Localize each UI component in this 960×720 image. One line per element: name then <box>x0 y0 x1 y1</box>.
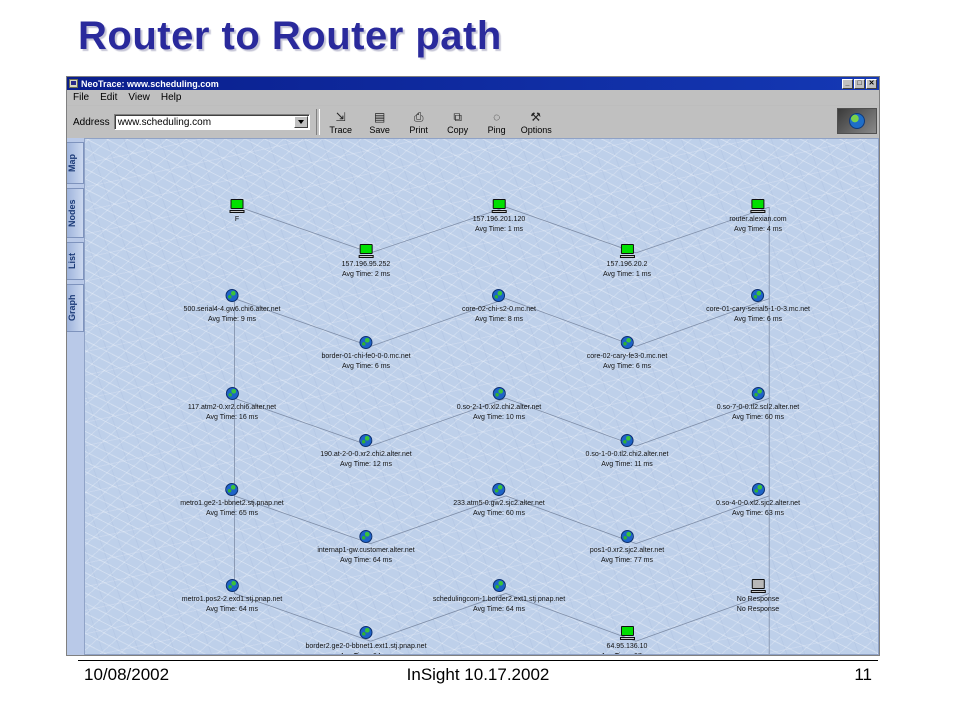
window-controls: _ □ ✕ <box>842 79 877 89</box>
computer-icon <box>619 244 634 258</box>
trace-icon: ⇲ <box>326 109 356 124</box>
map-node[interactable]: 233.atm5-0.gw2.sjc2.alter.netAvg Time: 6… <box>453 483 544 518</box>
footer-center: InSight 10.17.2002 <box>344 665 612 685</box>
node-label: 190.at-2-0-0.xr2.chi2.alter.net <box>320 450 411 459</box>
router-icon <box>621 336 634 349</box>
map-node[interactable]: 64.95.136.10Avg Time: 67 ms <box>601 626 653 655</box>
node-label: 233.atm5-0.gw2.sjc2.alter.net <box>453 499 544 508</box>
node-latency: Avg Time: 16 ms <box>188 413 276 422</box>
copy-button-label: Copy <box>443 125 473 135</box>
node-label: 117.atm2-0.xr2.chi6.alter.net <box>188 403 276 412</box>
map-node[interactable]: metro1.pos2-2.exd1.stj.pnap.netAvg Time:… <box>182 579 282 614</box>
tab-graph[interactable]: Graph <box>67 284 84 332</box>
router-icon <box>620 530 633 543</box>
node-latency: Avg Time: 10 ms <box>457 413 541 422</box>
map-node[interactable]: metro1.ge2-1-bbnet2.stj.pnap.netAvg Time… <box>180 483 284 518</box>
copy-icon: ⧉ <box>443 109 473 124</box>
node-latency: Avg Time: 12 ms <box>320 460 411 469</box>
map-node[interactable]: schedulingcom-1.border2.ext1.stj.pnap.ne… <box>433 579 565 614</box>
map-node[interactable]: 0.so-2-1-0.xl2.chi2.alter.netAvg Time: 1… <box>457 387 541 422</box>
page-title: Router to Router path <box>78 14 502 59</box>
router-icon <box>492 483 505 496</box>
router-icon <box>360 530 373 543</box>
node-label: 0.so-7-0-0.tl2.scl2.alter.net <box>717 403 800 412</box>
node-label: internap1-gw.customer.alter.net <box>317 546 414 555</box>
computer-icon <box>750 199 765 213</box>
node-latency: Avg Time: 64 ms <box>433 605 565 614</box>
node-latency: Avg Time: 67 ms <box>601 652 653 655</box>
network-map[interactable]: F157.196.95.252Avg Time: 2 ms157.196.201… <box>85 138 879 655</box>
globe-icon <box>849 113 865 129</box>
node-latency: Avg Time: 63 ms <box>716 509 800 518</box>
toolbar-buttons: ⇲ Trace ▤ Save ⎙ Print ⧉ Copy ◌ Ping <box>326 109 551 135</box>
router-icon <box>226 289 239 302</box>
footer-date: 10/08/2002 <box>78 665 344 685</box>
map-node[interactable]: 157.196.201.120Avg Time: 1 ms <box>473 199 526 234</box>
copy-button[interactable]: ⧉ Copy <box>443 109 473 135</box>
chevron-down-icon[interactable] <box>294 116 308 128</box>
toolbar: Address www.scheduling.com ⇲ Trace ▤ Sav… <box>67 106 879 139</box>
map-node[interactable]: 157.196.95.252Avg Time: 2 ms <box>342 244 391 279</box>
node-latency: Avg Time: 2 ms <box>342 270 391 279</box>
node-label: 0.so-4-0-0.xl2.sjc2.alter.net <box>716 499 800 508</box>
print-button-label: Print <box>404 125 434 135</box>
node-label: 0.so-2-1-0.xl2.chi2.alter.net <box>457 403 541 412</box>
print-button[interactable]: ⎙ Print <box>404 109 434 135</box>
map-node[interactable]: No ResponseNo Response <box>737 579 779 614</box>
node-label: border2.ge2-0-bbnet1.ext1.stj.pnap.net <box>305 642 426 651</box>
menu-item-view[interactable]: View <box>128 92 150 103</box>
node-latency: Avg Time: 11 ms <box>586 460 669 469</box>
map-node[interactable]: 0.so-1-0-0.tl2.chi2.alter.netAvg Time: 1… <box>586 434 669 469</box>
router-icon <box>360 626 373 639</box>
node-label: F <box>230 215 245 224</box>
neotrace-logo <box>837 108 877 134</box>
node-latency: Avg Time: 77 ms <box>590 556 664 565</box>
tab-nodes[interactable]: Nodes <box>67 188 84 238</box>
node-label: router.alexian.com <box>729 215 786 224</box>
router-icon <box>226 579 239 592</box>
presentation-slide: Router to Router path NeoTrace: www.sche… <box>0 0 960 720</box>
map-node[interactable]: 157.196.20.2Avg Time: 1 ms <box>603 244 651 279</box>
node-label: metro1.ge2-1-bbnet2.stj.pnap.net <box>180 499 284 508</box>
node-label: metro1.pos2-2.exd1.stj.pnap.net <box>182 595 282 604</box>
node-latency: Avg Time: 60 ms <box>717 413 800 422</box>
trace-button[interactable]: ⇲ Trace <box>326 109 356 135</box>
router-icon <box>492 289 505 302</box>
node-label: 64.95.136.10 <box>601 642 653 651</box>
computer-icon <box>230 199 245 213</box>
router-icon <box>752 289 765 302</box>
menu-bar: File Edit View Help <box>67 90 879 106</box>
map-node[interactable]: F <box>230 199 245 224</box>
router-icon <box>493 579 506 592</box>
toolbar-separator <box>316 109 320 135</box>
node-label: core-02-chi-s2-0.mc.net <box>462 305 536 314</box>
computer-icon <box>358 244 373 258</box>
menu-item-file[interactable]: File <box>73 92 89 103</box>
app-icon <box>69 79 78 88</box>
computer-icon <box>619 626 634 640</box>
save-icon: ▤ <box>365 109 395 124</box>
tab-list[interactable]: List <box>67 242 84 280</box>
router-icon <box>225 387 238 400</box>
window-title: NeoTrace: www.scheduling.com <box>81 79 842 89</box>
print-icon: ⎙ <box>404 109 434 124</box>
node-latency: Avg Time: 64 ms <box>182 605 282 614</box>
router-icon <box>359 434 372 447</box>
router-icon <box>751 483 764 496</box>
minimize-button[interactable]: _ <box>842 79 853 89</box>
computer-icon <box>492 199 507 213</box>
node-latency: Avg Time: 64 ms <box>305 652 426 655</box>
map-node[interactable]: internap1-gw.customer.alter.netAvg Time:… <box>317 530 414 565</box>
node-label: border-01-chi-fe0-0-0.mc.net <box>321 352 410 361</box>
slide-footer: 10/08/2002 InSight 10.17.2002 11 <box>78 660 878 689</box>
options-icon: ⚒ <box>521 109 551 124</box>
trace-button-label: Trace <box>326 125 356 135</box>
router-icon <box>620 434 633 447</box>
options-button[interactable]: ⚒ Options <box>521 109 551 135</box>
node-latency: Avg Time: 64 ms <box>317 556 414 565</box>
computer-offline-icon <box>750 579 765 593</box>
address-input[interactable]: www.scheduling.com <box>114 114 310 130</box>
node-latency: Avg Time: 6 ms <box>706 315 810 324</box>
node-latency: No Response <box>737 605 779 614</box>
window-titlebar: NeoTrace: www.scheduling.com _ □ ✕ <box>67 77 879 90</box>
router-icon <box>493 387 506 400</box>
map-node[interactable]: 500.serial4-4.gw6.chi6.alter.netAvg Time… <box>184 289 281 324</box>
address-value: www.scheduling.com <box>118 117 211 128</box>
node-latency: Avg Time: 60 ms <box>453 509 544 518</box>
node-latency: Avg Time: 1 ms <box>473 225 526 234</box>
neotrace-window: NeoTrace: www.scheduling.com _ □ ✕ File … <box>66 76 880 656</box>
close-button[interactable]: ✕ <box>866 79 877 89</box>
node-label: 157.196.95.252 <box>342 260 391 269</box>
node-label: core-02-cary-fe3-0.mc.net <box>587 352 668 361</box>
node-label: 0.so-1-0-0.tl2.chi2.alter.net <box>586 450 669 459</box>
map-node[interactable]: 0.so-4-0-0.xl2.sjc2.alter.netAvg Time: 6… <box>716 483 800 518</box>
ping-icon: ◌ <box>482 109 512 124</box>
map-node[interactable]: border2.ge2-0-bbnet1.ext1.stj.pnap.netAv… <box>305 626 426 655</box>
router-icon <box>225 483 238 496</box>
map-node[interactable]: core-02-cary-fe3-0.mc.netAvg Time: 6 ms <box>587 336 668 371</box>
options-button-label: Options <box>521 125 551 135</box>
node-label: schedulingcom-1.border2.ext1.stj.pnap.ne… <box>433 595 565 604</box>
ping-button[interactable]: ◌ Ping <box>482 109 512 135</box>
map-node[interactable]: core-02-chi-s2-0.mc.netAvg Time: 8 ms <box>462 289 536 324</box>
ping-button-label: Ping <box>482 125 512 135</box>
map-node[interactable]: router.alexian.comAvg Time: 4 ms <box>729 199 786 234</box>
node-label: 157.196.20.2 <box>603 260 651 269</box>
node-latency: Avg Time: 65 ms <box>180 509 284 518</box>
maximize-button[interactable]: □ <box>854 79 865 89</box>
node-label: 157.196.201.120 <box>473 215 526 224</box>
map-node[interactable]: 190.at-2-0-0.xr2.chi2.alter.netAvg Time:… <box>320 434 411 469</box>
footer-page: 11 <box>612 665 878 685</box>
node-latency: Avg Time: 8 ms <box>462 315 536 324</box>
node-latency: Avg Time: 1 ms <box>603 270 651 279</box>
map-node[interactable]: core-01-cary-serial5-1-0-3.mc.netAvg Tim… <box>706 289 810 324</box>
node-label: core-01-cary-serial5-1-0-3.mc.net <box>706 305 810 314</box>
node-latency: Avg Time: 6 ms <box>321 362 410 371</box>
router-icon <box>360 336 373 349</box>
node-label: pos1-0.xr2.sjc2.alter.net <box>590 546 664 555</box>
view-tabs: Map Nodes List Graph <box>67 138 85 655</box>
node-label: No Response <box>737 595 779 604</box>
map-node[interactable]: 117.atm2-0.xr2.chi6.alter.netAvg Time: 1… <box>188 387 276 422</box>
node-latency: Avg Time: 4 ms <box>729 225 786 234</box>
menu-item-help[interactable]: Help <box>161 92 182 103</box>
window-body: Map Nodes List Graph F157.196.95.252Avg … <box>67 138 879 655</box>
map-node[interactable]: border-01-chi-fe0-0-0.mc.netAvg Time: 6 … <box>321 336 410 371</box>
save-button[interactable]: ▤ Save <box>365 109 395 135</box>
save-button-label: Save <box>365 125 395 135</box>
node-label: 500.serial4-4.gw6.chi6.alter.net <box>184 305 281 314</box>
router-icon <box>752 387 765 400</box>
node-latency: Avg Time: 9 ms <box>184 315 281 324</box>
address-label: Address <box>73 117 110 128</box>
map-node[interactable]: pos1-0.xr2.sjc2.alter.netAvg Time: 77 ms <box>590 530 664 565</box>
map-node[interactable]: 0.so-7-0-0.tl2.scl2.alter.netAvg Time: 6… <box>717 387 800 422</box>
menu-item-edit[interactable]: Edit <box>100 92 117 103</box>
tab-map[interactable]: Map <box>67 142 84 184</box>
node-latency: Avg Time: 6 ms <box>587 362 668 371</box>
